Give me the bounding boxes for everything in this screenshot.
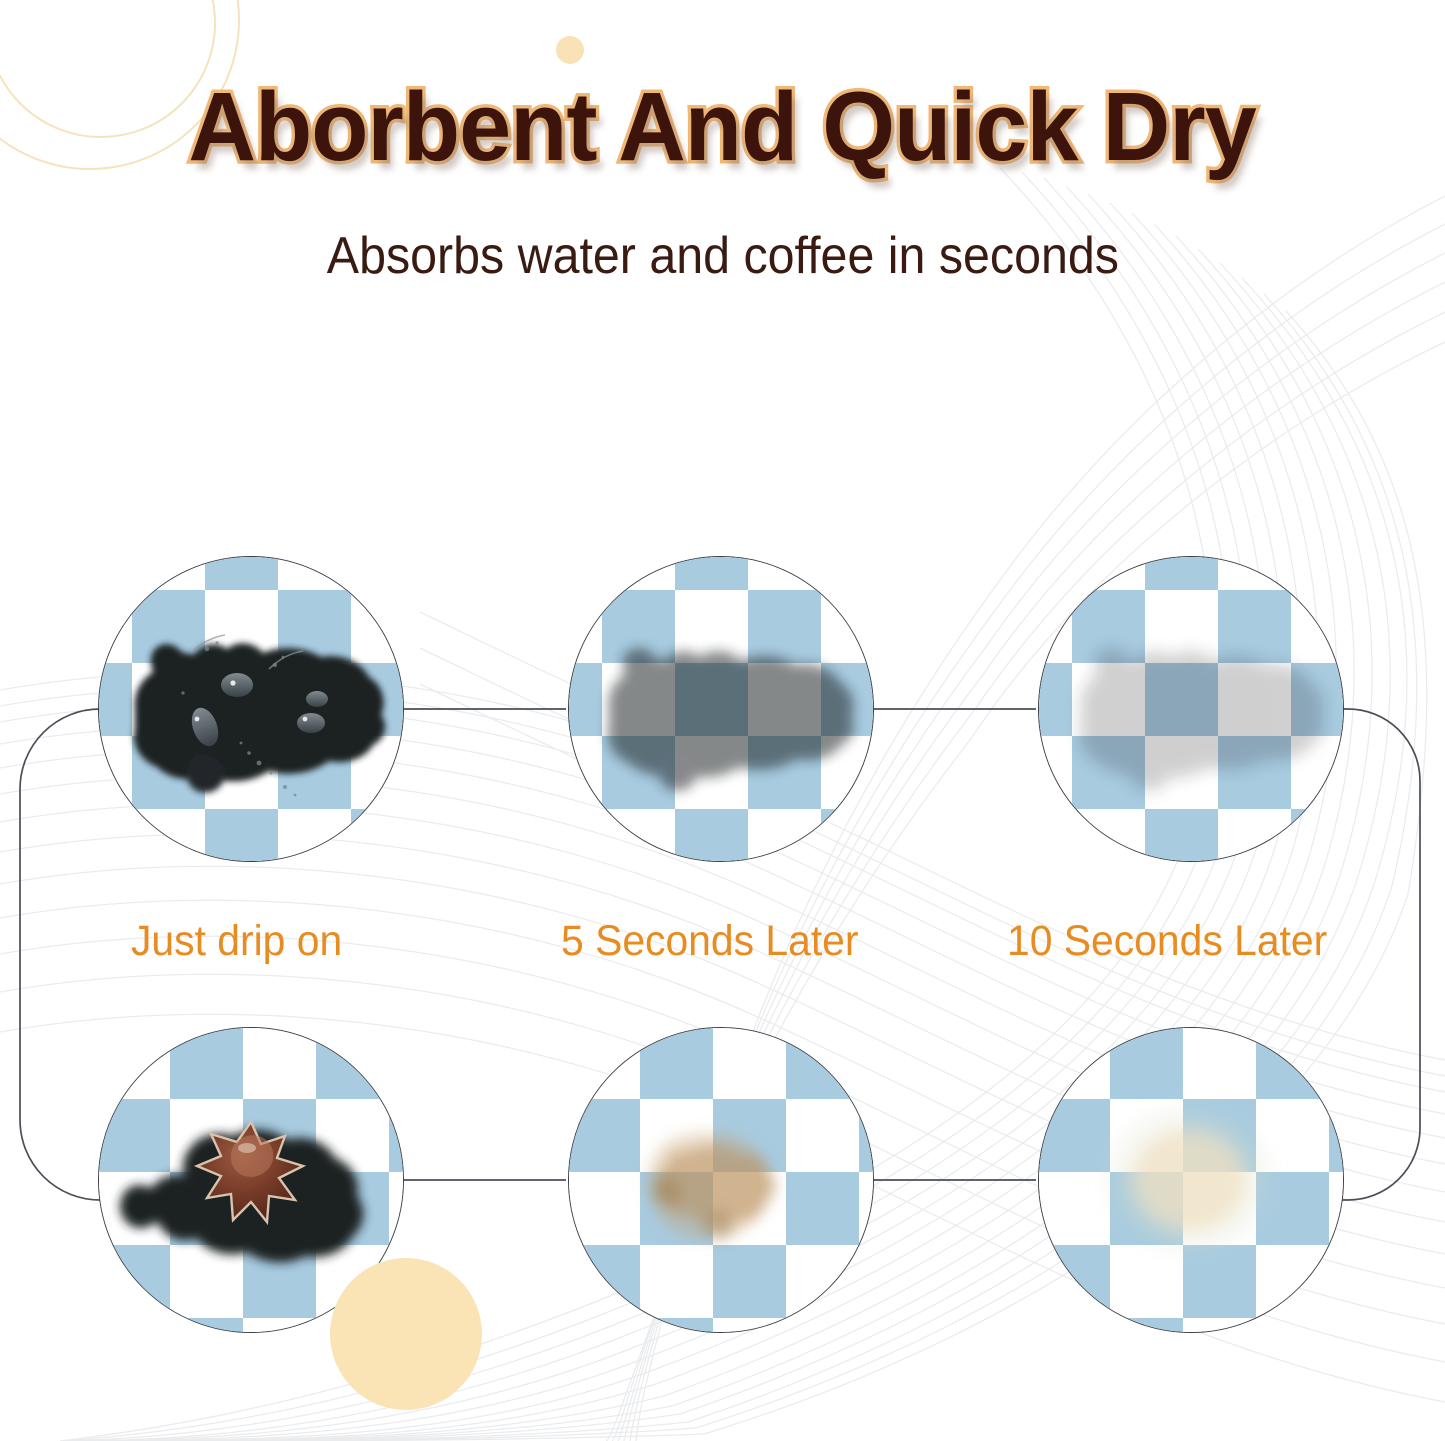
infographic-canvas: Aborbent And Quick Dry Absorbs water and…: [0, 0, 1445, 1441]
faded-coffee-stain: [569, 1028, 874, 1333]
demo-circle-coffee-10-seconds: [1038, 1027, 1344, 1333]
step-label-just-drip-on: Just drip on: [131, 917, 342, 966]
step-label-10-seconds-later: 10 Seconds Later: [1007, 917, 1327, 966]
faded-water-stain: [569, 557, 874, 862]
demo-circle-water-10-seconds: [1038, 556, 1344, 862]
demo-circle-water-5-seconds: [568, 556, 874, 862]
nearly-gone-water-stain: [1039, 557, 1344, 862]
demo-circle-coffee-5-seconds: [568, 1027, 874, 1333]
decorative-dot-large: [330, 1258, 482, 1410]
page-title: Aborbent And Quick Dry: [189, 78, 1256, 177]
demo-circle-water-just-dripped: [98, 556, 404, 862]
headline-block: Aborbent And Quick Dry: [0, 78, 1445, 177]
decorative-dot-small: [556, 36, 584, 64]
subheadline-block: Absorbs water and coffee in seconds: [0, 226, 1445, 286]
dark-water-splash-stain: [99, 557, 404, 862]
step-label-5-seconds-later: 5 Seconds Later: [561, 917, 859, 966]
page-subtitle: Absorbs water and coffee in seconds: [326, 226, 1118, 286]
clean-fabric-faint-tint: [1039, 1028, 1344, 1333]
